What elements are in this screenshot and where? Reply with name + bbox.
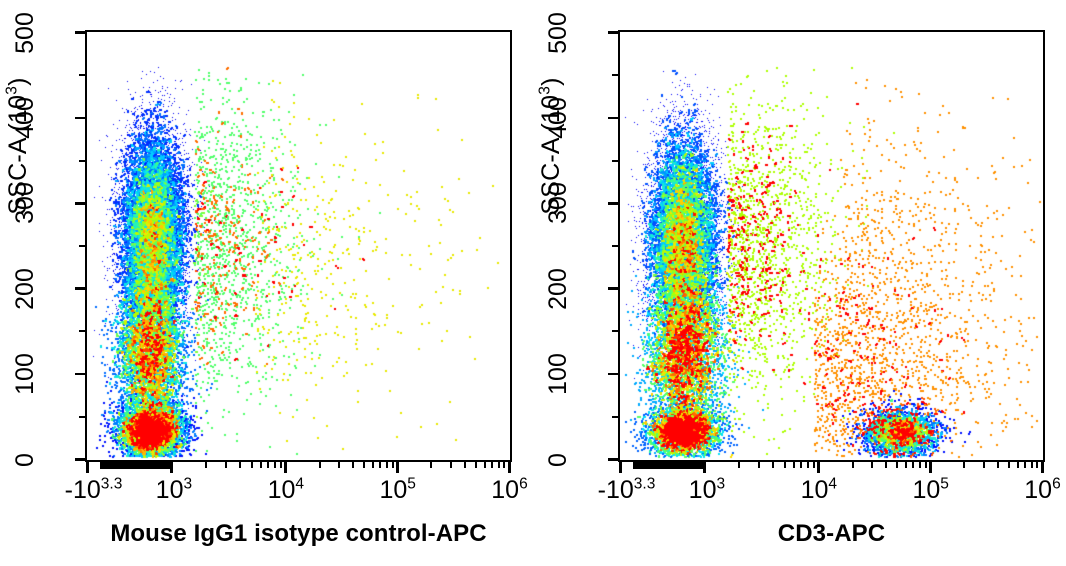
x-axis-minor-tick	[919, 462, 921, 468]
y-axis-tick-label: 100	[11, 329, 40, 419]
x-axis-minor-tick	[166, 462, 171, 469]
x-axis-minor-tick	[386, 462, 388, 468]
x-axis-tick-label: 105	[871, 476, 991, 505]
x-axis-minor-tick	[997, 462, 999, 468]
x-axis-tick-label: 104	[759, 476, 879, 505]
y-axis-tick-label: 100	[544, 329, 573, 419]
x-axis-minor-tick	[205, 462, 207, 468]
x-axis-minor-tick	[925, 462, 927, 468]
y-axis-major-tick	[75, 202, 86, 205]
x-axis-minor-tick	[793, 462, 795, 468]
x-axis-minor-tick	[896, 462, 898, 468]
y-axis-major-tick	[608, 287, 619, 290]
x-axis-tick-label: 104	[226, 476, 346, 505]
x-axis-major-tick	[817, 462, 820, 473]
x-axis-minor-tick	[983, 462, 985, 468]
plot-frame	[618, 30, 1045, 462]
x-axis-minor-tick	[338, 462, 340, 468]
x-axis-minor-tick	[503, 462, 505, 468]
x-axis-major-tick	[619, 462, 622, 473]
x-axis-minor-tick	[738, 462, 740, 468]
x-axis-minor-tick	[807, 462, 809, 468]
x-axis-major-tick	[929, 462, 932, 473]
x-axis-minor-tick	[1024, 462, 1026, 468]
x-axis-minor-tick	[363, 462, 365, 468]
x-axis-minor-tick	[372, 462, 374, 468]
x-axis-minor-tick	[772, 462, 774, 468]
x-axis-minor-tick	[1031, 462, 1033, 468]
y-axis-minor-tick	[79, 160, 86, 162]
x-axis-minor-tick	[963, 462, 965, 468]
y-axis-major-tick	[608, 117, 619, 120]
y-axis-major-tick	[608, 373, 619, 376]
y-axis-major-tick	[75, 31, 86, 34]
scatter-canvas	[620, 32, 1042, 459]
x-axis-minor-tick	[800, 462, 802, 468]
y-axis-major-tick	[75, 373, 86, 376]
x-axis-minor-tick	[392, 462, 394, 468]
x-axis-minor-tick	[498, 462, 500, 468]
y-axis-major-tick	[75, 287, 86, 290]
x-axis-minor-tick	[352, 462, 354, 468]
x-axis-minor-tick	[905, 462, 907, 468]
y-axis-tick-label: 300	[11, 158, 40, 248]
x-axis-tick-label: 103	[647, 476, 767, 505]
x-axis-minor-tick	[430, 462, 432, 468]
y-axis-minor-tick	[612, 416, 619, 418]
x-axis-minor-tick	[758, 462, 760, 468]
x-axis-minor-tick	[260, 462, 262, 468]
x-axis-tick-label: 103	[114, 476, 234, 505]
y-axis-major-tick	[75, 117, 86, 120]
x-axis-major-tick	[86, 462, 89, 473]
y-axis-tick-label: 500	[544, 0, 573, 78]
x-axis-minor-tick	[1017, 462, 1019, 468]
y-axis-major-tick	[608, 458, 619, 461]
x-axis-major-tick	[1041, 462, 1044, 473]
x-axis-minor-tick	[491, 462, 493, 468]
scatter-canvas	[87, 32, 509, 459]
x-axis-minor-tick	[813, 462, 815, 468]
x-axis-minor-tick	[379, 462, 381, 468]
x-axis-minor-tick	[484, 462, 486, 468]
x-axis-minor-tick	[1008, 462, 1010, 468]
plot-panel-cd3: SSC-A (103) CD3-APC 0100200300400500-103…	[533, 0, 1066, 566]
y-axis-tick-label: 500	[11, 0, 40, 78]
x-axis-major-tick	[508, 462, 511, 473]
y-axis-tick-label: 300	[544, 158, 573, 248]
y-axis-minor-tick	[79, 416, 86, 418]
y-axis-tick-label: 200	[11, 244, 40, 334]
y-axis-minor-tick	[79, 330, 86, 332]
x-axis-minor-tick	[251, 462, 253, 468]
y-axis-minor-tick	[612, 245, 619, 247]
x-axis-minor-tick	[885, 462, 887, 468]
x-axis-minor-tick	[450, 462, 452, 468]
x-axis-major-tick	[284, 462, 287, 473]
plot-panel-isotype-control: SSC-A (103) Mouse IgG1 isotype control-A…	[0, 0, 533, 566]
x-axis-minor-tick	[912, 462, 914, 468]
y-axis-minor-tick	[612, 160, 619, 162]
x-axis-minor-tick	[239, 462, 241, 468]
x-axis-tick-label: 106	[983, 476, 1066, 505]
x-axis-minor-tick	[871, 462, 873, 468]
y-axis-minor-tick	[79, 245, 86, 247]
x-axis-major-tick	[396, 462, 399, 473]
y-axis-tick-label: 200	[544, 244, 573, 334]
x-axis-minor-tick	[464, 462, 466, 468]
x-axis-minor-tick	[267, 462, 269, 468]
y-axis-tick-label: 400	[11, 73, 40, 163]
y-axis-major-tick	[75, 458, 86, 461]
x-axis-minor-tick	[475, 462, 477, 468]
flow-cytometry-figure: SSC-A (103) Mouse IgG1 isotype control-A…	[0, 0, 1066, 566]
x-axis-minor-tick	[319, 462, 321, 468]
x-axis-minor-tick	[784, 462, 786, 468]
y-axis-minor-tick	[612, 74, 619, 76]
x-axis-minor-tick	[274, 462, 276, 468]
y-axis-major-tick	[608, 202, 619, 205]
plot-frame	[85, 30, 512, 462]
x-axis-minor-tick	[852, 462, 854, 468]
x-axis-title: Mouse IgG1 isotype control-APC	[85, 520, 512, 548]
y-axis-tick-label: 400	[544, 73, 573, 163]
y-axis-minor-tick	[612, 330, 619, 332]
x-axis-title: CD3-APC	[618, 520, 1045, 548]
x-axis-minor-tick	[699, 462, 704, 469]
x-axis-minor-tick	[280, 462, 282, 468]
x-axis-minor-tick	[1036, 462, 1038, 468]
x-axis-tick-label: 105	[338, 476, 458, 505]
x-axis-minor-tick	[225, 462, 227, 468]
y-axis-minor-tick	[79, 74, 86, 76]
y-axis-major-tick	[608, 31, 619, 34]
